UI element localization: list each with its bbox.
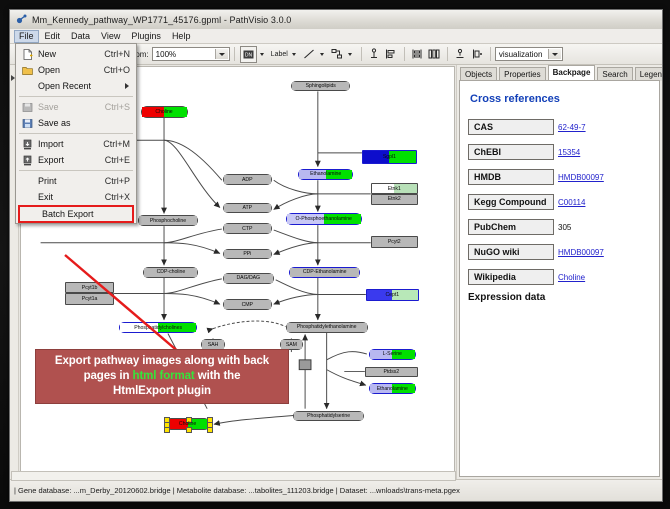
- xref-link[interactable]: 62-49-7: [558, 123, 586, 132]
- file-menu-item-new[interactable]: NewCtrl+N: [16, 46, 136, 62]
- gene-node-pcyt2[interactable]: Pcyt2: [371, 236, 418, 248]
- metabolite-node-cmp[interactable]: CMP: [223, 299, 272, 310]
- callout-line2-pre: pages in: [84, 370, 133, 382]
- toolbar-separator: [404, 47, 405, 61]
- menu-separator: [19, 133, 133, 134]
- xref-source-name: CAS: [468, 119, 554, 135]
- title-bar: Mm_Kennedy_pathway_WP1771_45176.gpml - P…: [10, 10, 662, 30]
- xref-source-name: HMDB: [468, 169, 554, 185]
- metabolite-node-ctp[interactable]: CTP: [223, 223, 272, 234]
- file-menu-item-label: Save: [38, 102, 105, 112]
- application-window: Mm_Kennedy_pathway_WP1771_45176.gpml - P…: [9, 9, 663, 502]
- menu-separator: [19, 170, 133, 171]
- gene-node-etnk1[interactable]: Etnk1: [371, 183, 418, 194]
- metabolite-node-ethanolamine[interactable]: Ethanolamine: [369, 383, 416, 394]
- datanode-chevron-icon[interactable]: [258, 47, 267, 61]
- annotation-text: Export pathway images along with back pa…: [55, 354, 269, 399]
- xref-link[interactable]: HMDB00097: [558, 248, 604, 257]
- file-menu-item-label: Print: [38, 176, 105, 186]
- file-menu-item-label: Exit: [38, 192, 105, 202]
- node-label: Etnk1: [388, 186, 401, 192]
- gene-node-sgpl1[interactable]: Sgpl1: [362, 150, 417, 164]
- tab-legend[interactable]: Legend: [635, 67, 663, 81]
- backpage-content[interactable]: Cross references CAS62-49-7ChEBI15354HMD…: [459, 80, 660, 477]
- xref-link[interactable]: HMDB00097: [558, 173, 604, 182]
- node-label: SAM: [286, 342, 297, 348]
- xref-source-name: Kegg Compound: [468, 194, 554, 210]
- metabolite-node-atp[interactable]: ATP: [223, 203, 272, 214]
- file-menu-item-shortcut: Ctrl+M: [103, 139, 130, 149]
- menu-plugins[interactable]: Plugins: [126, 30, 166, 43]
- node-label: CTP: [242, 226, 252, 232]
- selection-handle[interactable]: [207, 427, 213, 433]
- xref-source-name: ChEBI: [468, 144, 554, 160]
- metabolite-node-cdp-choline[interactable]: CDP-choline: [143, 267, 198, 278]
- metabolite-node-phosphatidylcholines[interactable]: Phosphatidylcholines: [119, 322, 197, 334]
- toolbar-separator: [447, 47, 448, 61]
- file-menu-item-label: Save as: [38, 118, 130, 128]
- xref-source-name: NuGO wiki: [468, 244, 554, 260]
- distribute-icon[interactable]: [427, 47, 442, 62]
- cross-reference-list: CAS62-49-7ChEBI15354HMDBHMDB00097Kegg Co…: [468, 117, 651, 285]
- file-menu-item-label: Open Recent: [38, 81, 125, 91]
- tab-search[interactable]: Search: [597, 67, 632, 81]
- datanode-icon[interactable]: DN: [240, 46, 257, 63]
- gene-node-etnk2[interactable]: Etnk2: [371, 194, 418, 205]
- node-label: Phosphatidylserine: [307, 413, 350, 419]
- xref-value: 305: [558, 223, 571, 232]
- tab-backpage[interactable]: Backpage: [548, 65, 596, 80]
- metabolite-node-choline[interactable]: Choline: [165, 418, 210, 430]
- window-title: Mm_Kennedy_pathway_WP1771_45176.gpml - P…: [32, 15, 291, 25]
- chevron-down-icon[interactable]: [215, 49, 228, 59]
- label-button[interactable]: Label: [271, 51, 288, 58]
- import-icon: [16, 139, 38, 150]
- xref-block: HMDBHMDB00097: [468, 167, 651, 185]
- label-chevron-icon[interactable]: [290, 47, 299, 61]
- status-bar: | Gene database: ...m_Derby_20120602.bri…: [10, 479, 662, 501]
- ungroup-icon[interactable]: [470, 47, 485, 62]
- horizontal-scrollbar[interactable]: [11, 471, 456, 481]
- node-label: Phosphocholine: [150, 218, 186, 224]
- node-label: Choline: [155, 109, 172, 115]
- file-menu-item-save: SaveCtrl+S: [16, 99, 136, 115]
- node-label: Pcyt2: [388, 239, 401, 245]
- menu-edit[interactable]: Edit: [40, 30, 66, 43]
- toolbar-separator: [234, 47, 235, 61]
- interaction-icon[interactable]: [330, 47, 345, 62]
- gene-node-cept1[interactable]: Cept1: [366, 289, 419, 302]
- file-menu-item-label: Open: [38, 65, 104, 75]
- node-label: Pcyt1a: [82, 296, 98, 302]
- node-label: CDP-choline: [157, 269, 186, 275]
- node-label: CMP: [242, 302, 253, 308]
- group-icon[interactable]: [453, 47, 468, 62]
- expression-data-title: Expression data: [468, 292, 651, 303]
- node-label: L-Serine: [383, 351, 402, 357]
- node-label: Ptdss2: [384, 369, 400, 375]
- file-menu-item-label: New: [38, 49, 104, 59]
- file-menu-item-label: Import: [38, 139, 103, 149]
- zoom-value: 100%: [156, 50, 176, 59]
- node-label: PPi: [243, 251, 251, 257]
- side-panel: Objects Properties Backpage Search Legen…: [456, 65, 662, 479]
- gene-node-pcyt1b[interactable]: Pcyt1b: [65, 282, 114, 294]
- node-label: Cept1: [385, 292, 399, 298]
- xref-block: NuGO wikiHMDB00097: [468, 242, 651, 260]
- gene-node-ptdss2[interactable]: Ptdss2: [365, 367, 418, 378]
- node-label: DAG/DAG: [236, 275, 260, 281]
- xref-block: ChEBI15354: [468, 142, 651, 160]
- export-icon: [16, 155, 38, 166]
- toolbar-separator: [490, 47, 491, 61]
- menu-bar[interactable]: File Edit Data View Plugins Help: [10, 29, 662, 44]
- selection-handle[interactable]: [186, 427, 192, 433]
- node-label: Pcyt1b: [82, 285, 98, 291]
- metabolite-node-cdp-ethanolamine[interactable]: CDP-Ethanolamine: [289, 267, 360, 278]
- open-folder-icon: [16, 65, 38, 76]
- xref-link[interactable]: 15354: [558, 148, 580, 157]
- metabolite-node-l-serine[interactable]: L-Serine: [369, 349, 416, 360]
- menu-file[interactable]: File: [14, 30, 39, 43]
- node-label: CDP-Ethanolamine: [303, 269, 347, 275]
- file-menu-item-label: Batch Export: [42, 209, 126, 219]
- file-menu-item-export[interactable]: ExportCtrl+E: [16, 152, 136, 168]
- cross-references-title: Cross references: [470, 93, 651, 105]
- node-label: Etnk2: [388, 196, 401, 202]
- file-menu-item-open-recent[interactable]: Open Recent: [16, 78, 136, 94]
- file-menu-item-label: Export: [38, 155, 105, 165]
- gene-node-pcyt1a[interactable]: Pcyt1a: [65, 293, 114, 305]
- node-label: Phosphatidylcholines: [134, 325, 182, 331]
- menu-help[interactable]: Help: [167, 30, 196, 43]
- submenu-arrow-icon: [125, 83, 129, 89]
- metabolite-node-ppi[interactable]: PPi: [223, 249, 272, 260]
- metabolite-node-sphingolipids[interactable]: Sphingolipids: [291, 81, 350, 92]
- file-menu-item-batch-export[interactable]: Batch Export: [18, 205, 134, 223]
- menu-separator: [19, 96, 133, 97]
- tab-properties[interactable]: Properties: [499, 67, 545, 81]
- node-label: Ethanolamine: [377, 386, 408, 392]
- file-menu-item-shortcut: Ctrl+P: [105, 176, 130, 186]
- node-label: ATP: [243, 205, 253, 211]
- callout-line3: HtmlExport plugin: [113, 385, 211, 397]
- interaction-chevron-icon[interactable]: [346, 47, 355, 61]
- file-menu-item-shortcut: Ctrl+O: [104, 65, 130, 75]
- new-file-icon: [16, 49, 38, 60]
- xref-source-name: Wikipedia: [468, 269, 554, 285]
- save-as-icon: [16, 118, 38, 129]
- metabolite-node-dag-dag[interactable]: DAG/DAG: [223, 273, 274, 284]
- desktop-background: Mm_Kennedy_pathway_WP1771_45176.gpml - P…: [0, 0, 670, 509]
- metabolite-node-phosphocholine[interactable]: Phosphocholine: [138, 215, 199, 226]
- file-menu-item-shortcut: Ctrl+E: [105, 155, 130, 165]
- file-menu-item-open[interactable]: OpenCtrl+O: [16, 62, 136, 78]
- node-label: Choline: [179, 421, 196, 427]
- zoom-combobox[interactable]: 100%: [152, 47, 230, 61]
- file-menu-item-shortcut: Ctrl+N: [104, 49, 130, 59]
- node-label: Sphingolipids: [306, 83, 336, 89]
- node-label: ADP: [242, 177, 253, 183]
- annotation-callout: Export pathway images along with back pa…: [35, 349, 289, 404]
- node-label: Sgpl1: [383, 154, 396, 160]
- file-menu-item-print[interactable]: PrintCtrl+P: [16, 173, 136, 189]
- visualization-combobox[interactable]: visualization: [495, 47, 563, 61]
- xref-block: CAS62-49-7: [468, 117, 651, 135]
- file-menu-dropdown[interactable]: NewCtrl+NOpenCtrl+OOpen RecentSaveCtrl+S…: [15, 43, 137, 224]
- metabolite-node-adp[interactable]: ADP: [223, 174, 272, 185]
- stack-icon[interactable]: [410, 47, 425, 62]
- node-label: Phosphatidylethanolamine: [297, 324, 357, 330]
- file-menu-item-save-as[interactable]: Save as: [16, 115, 136, 131]
- metabolite-node-ethanolamine[interactable]: Ethanolamine: [298, 169, 353, 181]
- xref-block: Kegg CompoundC00114: [468, 192, 651, 210]
- callout-line2-highlight: html format: [133, 370, 195, 382]
- file-menu-item-import[interactable]: ImportCtrl+M: [16, 136, 136, 152]
- menu-view[interactable]: View: [96, 30, 125, 43]
- tab-objects[interactable]: Objects: [460, 67, 497, 81]
- metabolite-node-phosphatidylethanolamine[interactable]: Phosphatidylethanolamine: [286, 322, 368, 333]
- file-menu-item-exit[interactable]: ExitCtrl+X: [16, 189, 136, 205]
- metabolite-node-o-phosphoethanolamine[interactable]: O-Phosphoethanolamine: [286, 213, 362, 225]
- node-label: SAH: [208, 342, 219, 348]
- callout-line1: Export pathway images along with back: [55, 355, 269, 367]
- node-label: Ethanolamine: [310, 171, 341, 177]
- node-label: O-Phosphoethanolamine: [296, 216, 352, 222]
- file-menu-item-shortcut: Ctrl+S: [105, 102, 130, 112]
- line-chevron-icon[interactable]: [318, 47, 327, 61]
- align-left-icon[interactable]: [384, 47, 399, 62]
- visualization-value: visualization: [499, 50, 543, 59]
- toolbar-separator: [361, 47, 362, 61]
- xref-link[interactable]: Choline: [558, 273, 585, 282]
- status-text: | Gene database: ...m_Derby_20120602.bri…: [14, 486, 460, 495]
- metabolite-node-choline[interactable]: Choline: [141, 106, 188, 118]
- xref-source-name: PubChem: [468, 219, 554, 235]
- side-panel-tabs[interactable]: Objects Properties Backpage Search Legen…: [457, 65, 662, 80]
- pathvisio-icon: [16, 14, 27, 25]
- svg-text:DN: DN: [245, 52, 253, 58]
- file-menu-item-shortcut: Ctrl+X: [105, 192, 130, 202]
- selection-handle[interactable]: [164, 427, 170, 433]
- menu-data[interactable]: Data: [66, 30, 95, 43]
- callout-line2-post: with the: [195, 370, 241, 382]
- anchor-icon[interactable]: [367, 47, 382, 62]
- chevron-down-icon[interactable]: [548, 49, 561, 59]
- line-icon[interactable]: [302, 47, 317, 62]
- xref-link[interactable]: C00114: [558, 198, 585, 207]
- xref-block: PubChem305: [468, 217, 651, 235]
- metabolite-node-phosphatidylserine[interactable]: Phosphatidylserine: [293, 411, 364, 422]
- save-icon: [16, 102, 38, 113]
- xref-block: WikipediaCholine: [468, 267, 651, 285]
